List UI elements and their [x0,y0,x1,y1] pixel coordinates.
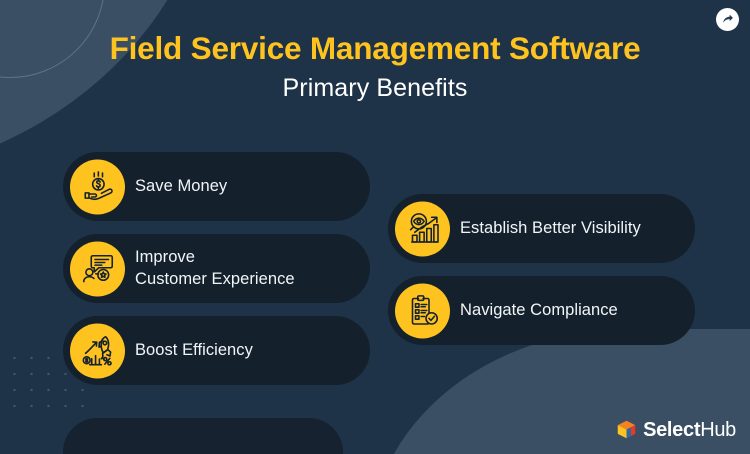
customer-feedback-icon [70,241,125,296]
benefit-card-establish-better-visibility[interactable]: Establish Better Visibility [388,194,695,263]
benefit-card-boost-efficiency[interactable]: Boost Efficiency [63,316,370,385]
benefit-card-save-money[interactable]: Save Money [63,152,370,221]
benefit-label: Establish Better Visibility [460,218,641,239]
page-title: Field Service Management Software [0,30,750,66]
hand-holding-money-icon [70,159,125,214]
clipboard-check-icon [395,283,450,338]
benefit-label: Boost Efficiency [135,340,253,361]
page-header: Field Service Management Software Primar… [0,30,750,103]
share-arrow-icon [721,13,734,26]
selecthub-cube-icon [616,419,637,440]
benefits-right-column: Establish Better Visibility [388,194,695,345]
eye-magnifier-chart-icon [395,201,450,256]
benefit-card-navigate-compliance[interactable]: Navigate Compliance [388,276,695,345]
benefit-label: Save Money [135,176,227,197]
logo-select-text: Select [643,419,700,441]
selecthub-logo[interactable]: SelectHub [616,419,736,440]
share-button[interactable] [716,8,739,31]
logo-hub-text: Hub [700,419,736,441]
benefit-label: Navigate Compliance [460,300,618,321]
bottom-right-wave-shape-back [510,374,750,454]
infographic-canvas: Field Service Management Software Primar… [0,0,750,454]
benefits-left-column: Save Money Improve Customer Experience [63,152,370,385]
rocket-growth-chart-icon [70,323,125,378]
benefit-label: Improve Customer Experience [135,247,295,289]
page-subtitle: Primary Benefits [0,74,750,103]
benefit-card-improve-customer-experience[interactable]: Improve Customer Experience [63,234,370,303]
bottom-left-dark-shape [63,418,343,454]
logo-wordmark: SelectHub [643,420,736,440]
